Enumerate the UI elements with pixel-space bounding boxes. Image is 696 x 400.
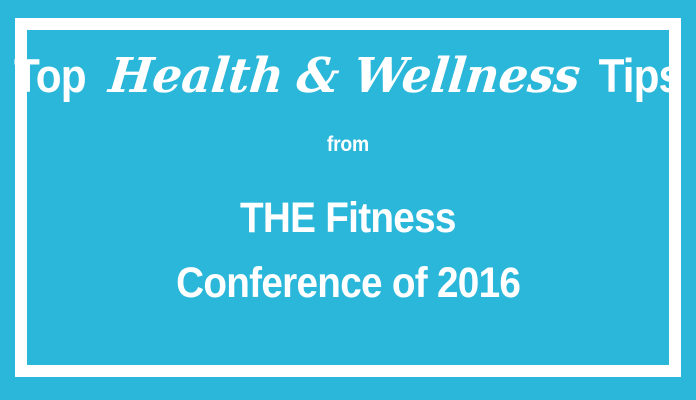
title-word-health: Health [104,52,287,100]
poster-venue-line-1: THE Fitness [240,197,456,240]
title-word-wellness: Wellness [349,52,583,100]
title-word-ampersand: & [293,52,343,100]
poster-title: Top Health & Wellness Tips [10,52,686,104]
poster-venue-line-2: Conference of 2016 [176,262,520,305]
poster-content: Top Health & Wellness Tips from THE Fitn… [0,0,696,400]
title-word-tips: Tips [599,52,682,99]
poster-connector-from: from [327,134,369,155]
poster-graphic: Top Health & Wellness Tips from THE Fitn… [0,0,696,400]
title-word-top: Top [14,52,86,99]
